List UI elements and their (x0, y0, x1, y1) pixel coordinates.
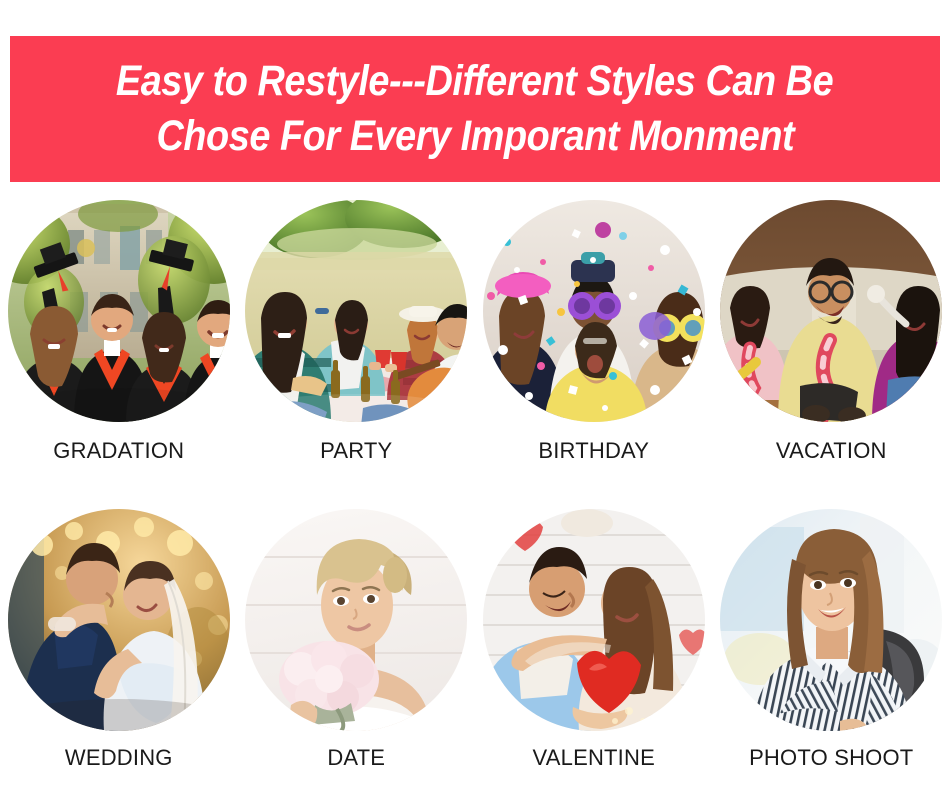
photo-shoot-circle-wrap (720, 509, 942, 731)
occasion-label-valentine: VALENTINE (533, 745, 655, 771)
occasion-cell-date[interactable]: DATE (238, 509, 476, 771)
birthday-circle-wrap (483, 200, 705, 422)
headline-banner: Easy to Restyle---Different Styles Can B… (10, 36, 940, 182)
valentine-circle-wrap (483, 509, 705, 731)
occasion-row-1: GRADATION (0, 200, 950, 464)
occasion-label-party: PARTY (320, 438, 392, 464)
birthday-photo (483, 200, 705, 422)
occasion-label-vacation: VACATION (776, 438, 887, 464)
date-circle-wrap (245, 509, 467, 731)
party-circle-wrap (245, 200, 467, 422)
occasion-grid: GRADATION (0, 200, 950, 771)
promo-banner-page: Easy to Restyle---Different Styles Can B… (0, 0, 950, 804)
occasion-cell-party[interactable]: PARTY (238, 200, 476, 464)
occasion-label-wedding: WEDDING (65, 745, 173, 771)
occasion-label-birthday: BIRTHDAY (538, 438, 649, 464)
occasion-label-date: DATE (327, 745, 385, 771)
headline-line-2: Chose For Every Imporant Monment (156, 109, 794, 164)
occasion-cell-gradation[interactable]: GRADATION (0, 200, 238, 464)
date-photo (245, 509, 467, 731)
gradation-circle-wrap (8, 200, 230, 422)
wedding-circle-wrap (8, 509, 230, 731)
vacation-photo (720, 200, 942, 422)
occasion-cell-wedding[interactable]: WEDDING (0, 509, 238, 771)
occasion-cell-birthday[interactable]: BIRTHDAY (475, 200, 713, 464)
party-photo (245, 200, 467, 422)
occasion-label-photo-shoot: PHOTO SHOOT (749, 745, 913, 771)
occasion-cell-photo-shoot[interactable]: PHOTO SHOOT (713, 509, 950, 771)
occasion-cell-valentine[interactable]: VALENTINE (475, 509, 713, 771)
occasion-row-2: WEDDING (0, 509, 950, 771)
graduation-photo (8, 200, 230, 422)
photo-shoot-photo (720, 509, 942, 731)
valentine-photo (483, 509, 705, 731)
occasion-label-gradation: GRADATION (53, 438, 184, 464)
wedding-photo (8, 509, 230, 731)
occasion-cell-vacation[interactable]: VACATION (713, 200, 950, 464)
vacation-circle-wrap (720, 200, 942, 422)
headline-line-1: Easy to Restyle---Different Styles Can B… (116, 54, 833, 109)
